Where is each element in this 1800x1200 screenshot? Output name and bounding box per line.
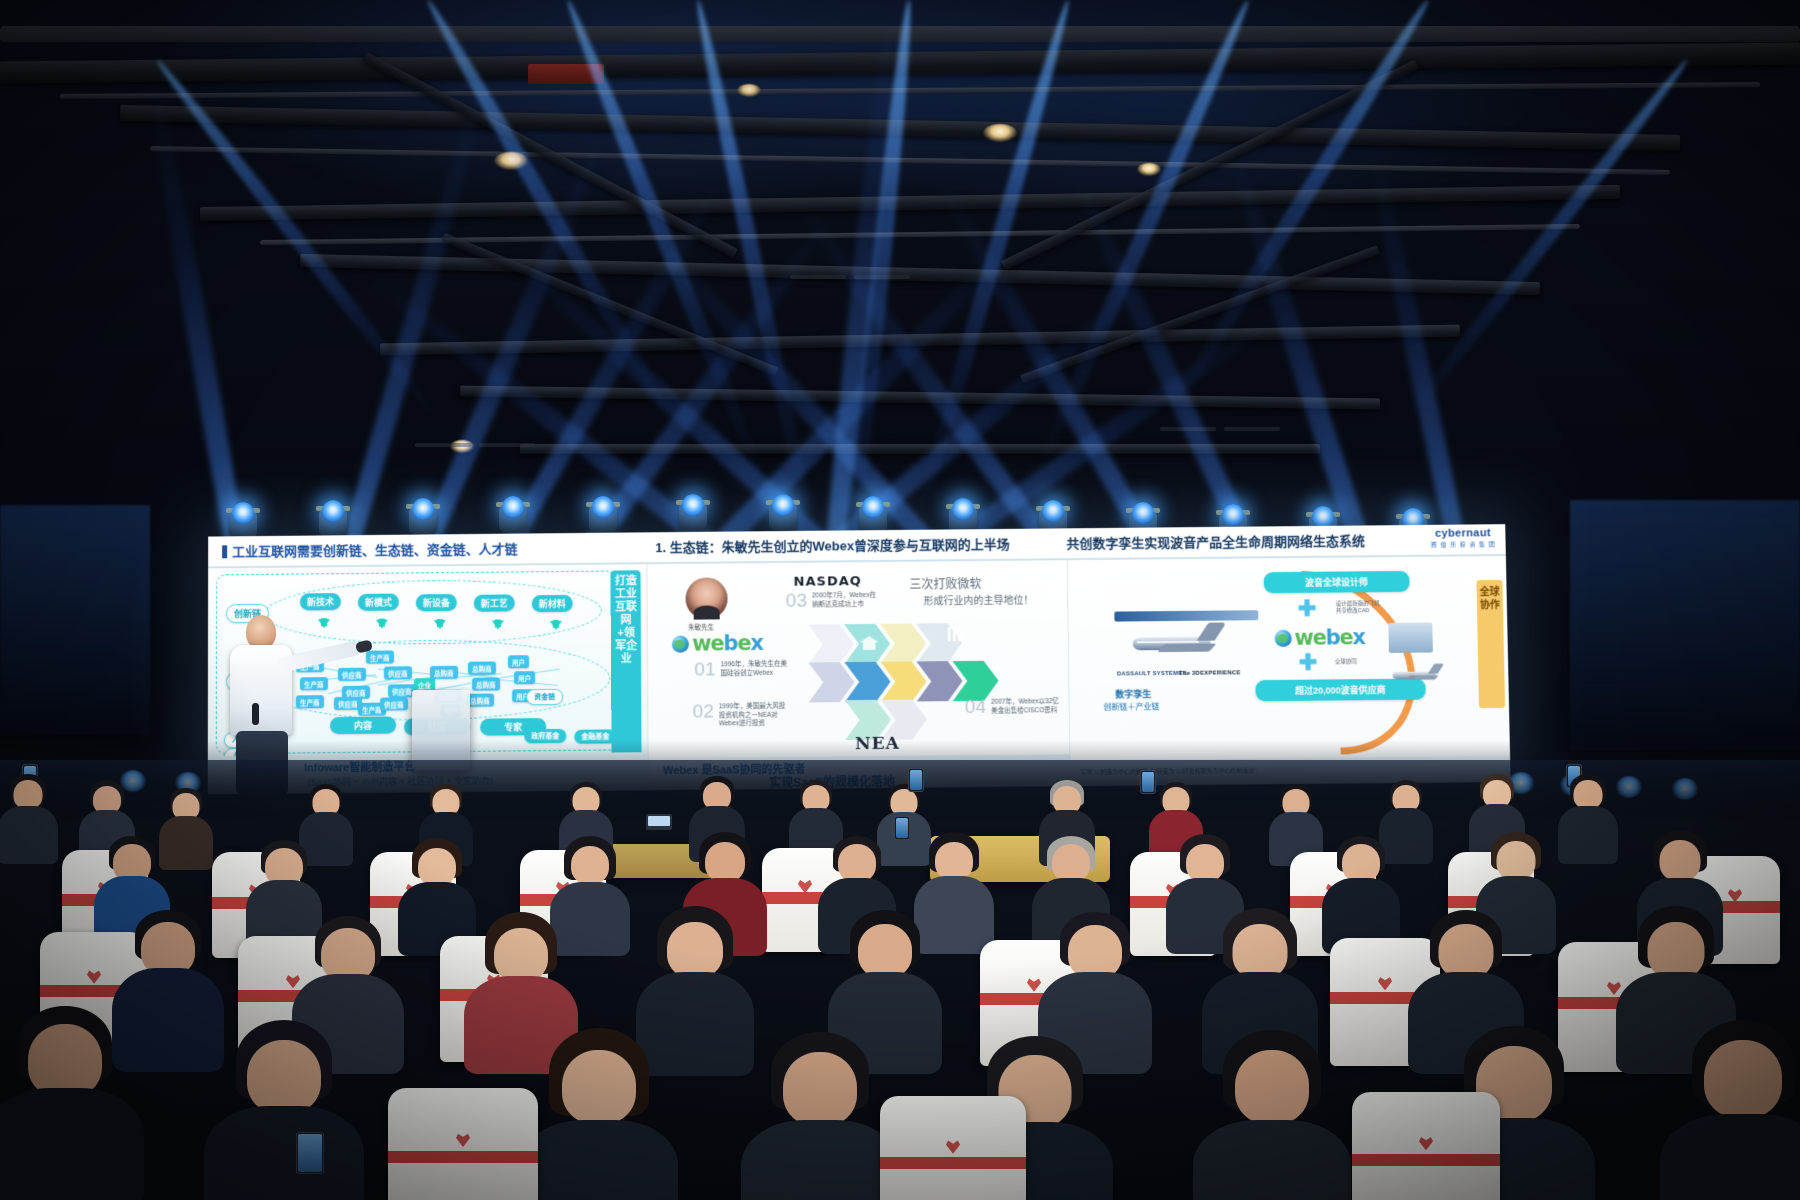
slide-header-left: 工业互联网需要创新链、生态链、资金链、人才链 <box>222 539 518 561</box>
smartphone-foreground <box>296 1132 324 1174</box>
callout-defeat-microsoft: 三次打败微软 形成行业内的主导地位！ <box>909 574 1033 607</box>
slide-header-center: 1. 生态链：朱敏先生创立的Webex曾深度参与互联网的上半场 <box>655 534 1010 556</box>
item-number: 03 <box>786 593 807 610</box>
screenshot-thumbnail <box>1388 623 1433 653</box>
ceiling-pipe <box>60 82 1760 99</box>
item-number: 02 <box>693 703 714 729</box>
ceiling-truss <box>0 43 1800 84</box>
digital-twin-caption-1: 数字孪生 <box>1115 687 1151 700</box>
logo-subtext: 赛 伯 乐 投 资 集 团 <box>1431 539 1496 549</box>
node-boeing-designers: 波音全球设计师 <box>1263 571 1409 593</box>
laptop <box>646 814 672 830</box>
ceiling-pipe <box>150 146 1670 175</box>
ceiling-truss <box>200 185 1620 221</box>
microphone <box>252 703 259 725</box>
node-buyer: 总购商 <box>468 661 496 674</box>
bar-chart-icon <box>948 627 964 641</box>
ceiling-fan <box>415 436 535 454</box>
chip-new-process: 新工艺 <box>474 594 515 611</box>
speaker-head <box>246 615 276 649</box>
dassault-logo: DASSAULT SYSTEMES <box>1117 671 1187 678</box>
node-supplier: 供应商 <box>380 697 408 710</box>
ceiling-truss <box>460 386 1380 410</box>
portrait-avatar <box>686 577 728 619</box>
plus-icon: ✚ <box>1299 654 1318 672</box>
smartphone-recording <box>894 816 910 840</box>
aircraft-thumbnail <box>1389 660 1442 689</box>
ceiling-truss <box>380 325 1460 356</box>
webex-globe-icon <box>672 635 689 652</box>
hall-sign <box>528 64 604 84</box>
slide-header-left-text: 工业互联网需要创新链、生态链、资金链、人才链 <box>232 542 518 560</box>
global-contract-label: 全球协同 <box>1335 659 1357 666</box>
callout-line-1: 三次打败微软 <box>909 574 1033 592</box>
timeline-item-02: 02 1999年，美国最大风投投资机构之一NEA对Webex进行投资 <box>693 703 787 729</box>
plus-icon: ✚ <box>1298 600 1317 618</box>
item-text: 2000年7月，Webex在纳斯达克成功上市 <box>812 592 880 610</box>
digital-twin-caption-2: 创新链＋产业链 <box>1103 701 1159 713</box>
ceiling-lamp <box>494 152 528 170</box>
ceiling-duct <box>0 26 1800 42</box>
node-producer: 生产商 <box>366 650 394 663</box>
node-user: 用户 <box>514 671 535 684</box>
vertical-banner-left: 打造工业互联网+领军企业 <box>611 570 642 760</box>
ceiling-fan <box>790 268 910 286</box>
venue-ceiling <box>0 0 1800 620</box>
callout-line-2: 形成行业内的主导地位！ <box>924 591 1034 607</box>
item-text: 1996年，朱敏先生在美国硅谷创立Webex <box>720 661 788 679</box>
aircraft-illustration <box>1126 617 1223 670</box>
node-buyer: 总购商 <box>472 677 500 690</box>
node-buyer: 总购商 <box>466 694 494 707</box>
node-buyer: 总购商 <box>430 666 458 679</box>
chip-new-tech: 新技术 <box>300 593 341 610</box>
left-wall-panel <box>0 505 150 735</box>
conference-photo-scene: 工业互联网需要创新链、生态链、资金链、人才链 1. 生态链：朱敏先生创立的Web… <box>0 0 1800 1200</box>
chip-new-material: 新材料 <box>532 595 573 612</box>
chevron-tile <box>808 662 854 702</box>
chevron-tile <box>808 624 854 664</box>
audience-area <box>0 740 1800 1200</box>
webex-logo: webex <box>672 631 763 656</box>
right-wall-panel <box>1570 500 1800 750</box>
item-text: 1999年，美国最大风投投资机构之一NEA对Webex进行投资 <box>719 703 787 729</box>
smartphone-recording <box>1140 770 1156 794</box>
chip-new-device: 新设备 <box>416 594 457 611</box>
ceiling-fan <box>1160 420 1280 438</box>
design-note: 设计最新版的飞机 共享修改CAD <box>1336 601 1380 615</box>
ceiling-truss <box>120 105 1680 151</box>
ceiling-truss <box>520 444 1320 454</box>
node-user: 用户 <box>508 655 529 668</box>
portrait-caption: 朱敏先生 <box>688 621 714 631</box>
ceiling-lamp <box>737 84 761 97</box>
ceiling-lamp <box>983 124 1017 142</box>
timeline-item-04: 04 2007年，Webex以32亿美金出售给CISCO思科 <box>965 698 1059 716</box>
node-supplier: 供应商 <box>384 666 412 679</box>
webex-globe-icon <box>1274 629 1291 646</box>
item-number: 01 <box>694 661 715 678</box>
vertical-banner-right: 全球协作 <box>1476 580 1505 708</box>
item-number: 04 <box>965 699 986 716</box>
timeline-item-03: 03 2000年7月，Webex在纳斯达克成功上市 <box>786 592 880 610</box>
ceiling-truss-diagonal <box>1020 245 1380 383</box>
cybernaut-logo: cybernaut 赛 伯 乐 投 资 集 团 <box>1430 527 1495 549</box>
slide-header-right: 共创数字孪生实现波音产品全生命周期网络生态系统 <box>1066 530 1365 552</box>
timeline-item-01: 01 1996年，朱敏先生在美国硅谷创立Webex <box>694 661 788 679</box>
ceiling-lamp <box>1137 163 1161 176</box>
webex-logo-right: webex <box>1274 625 1365 650</box>
smartphone-recording <box>908 768 924 792</box>
item-text: 2007年，Webex以32亿美金出售给CISCO思科 <box>991 698 1059 716</box>
chip-new-model: 新模式 <box>358 594 399 611</box>
logo-wordmark: cybernaut <box>1430 527 1495 540</box>
nasdaq-logo: NASDAQ <box>794 574 862 590</box>
label-capital-chain: 资金链 <box>526 689 563 705</box>
